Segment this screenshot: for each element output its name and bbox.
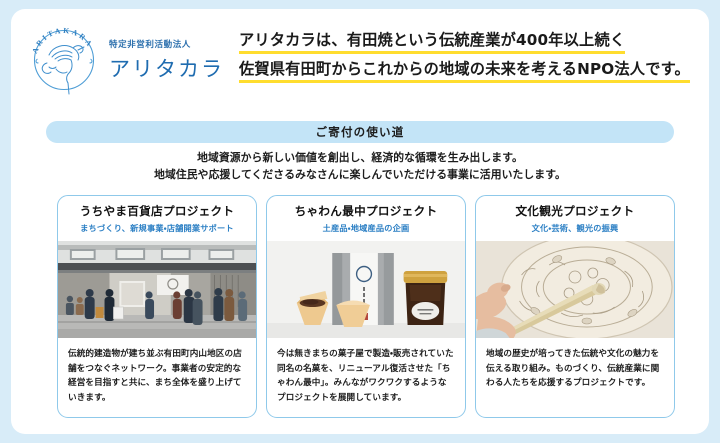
page-header: ARITAKARA — [11, 9, 709, 107]
card-title: 文化観光プロジェクト — [482, 205, 668, 218]
headline-line-1: アリタカラは、有田焼という伝統産業が400年以上続く — [239, 33, 625, 54]
donation-usage-band: ご寄付の使い道 — [46, 121, 674, 143]
headline: アリタカラは、有田焼という伝統産業が400年以上続く 佐賀県有田町からこれからの… — [233, 33, 709, 83]
brand-text: 特定非営利活動法人 アリタカラ — [109, 34, 224, 83]
page-panel: ARITAKARA — [11, 9, 709, 434]
card-header: 文化観光プロジェクト 文化・芸術、観光の振興 — [476, 205, 674, 241]
porcelain-painting-photo — [476, 241, 674, 338]
card-title: ちゃわん最中プロジェクト — [273, 205, 459, 218]
lead-line-2: 地域住民や応援してくださるみなさんに楽しんでいただける事業に活用いたします。 — [11, 166, 709, 183]
project-cards: うちやま百貨店プロジェクト まちづくり、新規事業・店舗開業サポート — [57, 195, 675, 418]
card-header: ちゃわん最中プロジェクト 土産品・地域産品の企画 — [267, 205, 465, 241]
project-card-culture-tourism[interactable]: 文化観光プロジェクト 文化・芸術、観光の振興 — [475, 195, 675, 418]
card-body: 今は無きまちの菓子屋で製造・販売されていた同名の名菓を、リニューアル復活させた「… — [267, 338, 465, 417]
aritakara-logo-icon: ARITAKARA — [25, 19, 103, 97]
chawan-monaka-product-photo — [267, 241, 465, 338]
card-body: 伝統的建造物が建ち並ぶ有田町内山地区の店舗をつなぐネットワーク。事業者の安定的な… — [58, 338, 256, 417]
brand-lockup: ARITAKARA — [11, 19, 233, 97]
card-header: うちやま百貨店プロジェクト まちづくり、新規事業・店舗開業サポート — [58, 205, 256, 241]
card-title: うちやま百貨店プロジェクト — [64, 205, 250, 218]
card-body: 地域の歴史が培ってきた伝統や文化の魅力を伝える取り組み。ものづくり、伝統産業に関… — [476, 338, 674, 402]
lead-paragraph: 地域資源から新しい価値を創出し、経済的な循環を生み出します。 地域住民や応援して… — [11, 149, 709, 184]
project-card-uchiyama[interactable]: うちやま百貨店プロジェクト まちづくり、新規事業・店舗開業サポート — [57, 195, 257, 418]
card-subtitle: 土産品・地域産品の企画 — [273, 222, 459, 234]
brand-kicker: 特定非営利活動法人 — [109, 38, 224, 50]
band-title: ご寄付の使い道 — [316, 124, 405, 140]
card-subtitle: 文化・芸術、観光の振興 — [482, 222, 668, 234]
project-card-chawan-monaka[interactable]: ちゃわん最中プロジェクト 土産品・地域産品の企画 — [266, 195, 466, 418]
headline-line-2: 佐賀県有田町からこれからの地域の未来を考えるNPO法人です。 — [239, 62, 690, 83]
card-subtitle: まちづくり、新規事業・店舗開業サポート — [64, 222, 250, 234]
lead-line-1: 地域資源から新しい価値を創出し、経済的な循環を生み出します。 — [11, 149, 709, 166]
machiya-streetscape-photo — [58, 241, 256, 338]
brand-name: アリタカラ — [109, 53, 224, 83]
